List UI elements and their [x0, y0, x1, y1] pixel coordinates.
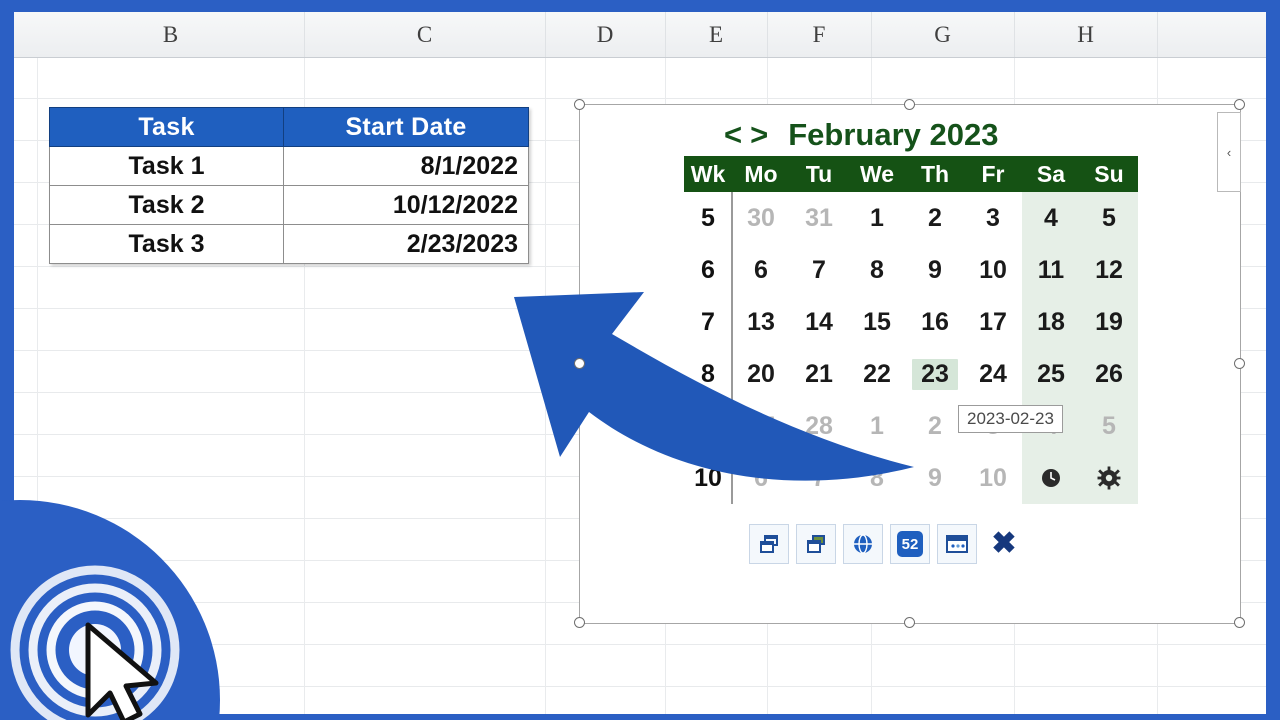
date-picker-toolbar: 52 ✖	[749, 524, 1024, 564]
calendar-day-label: 23	[912, 359, 958, 390]
column-header-label: E	[709, 22, 723, 48]
calendar-header: < > February 2023	[680, 114, 1142, 156]
column-header-label: F	[813, 22, 826, 48]
chevron-left-icon: ‹	[1227, 145, 1231, 160]
calendar-day-cell[interactable]: 5	[1080, 192, 1138, 244]
calendar-day-label: 5	[1102, 412, 1116, 441]
resize-handle-s[interactable]	[904, 617, 915, 628]
column-header-b[interactable]: B	[37, 12, 305, 57]
calendar-day-label: 9	[928, 256, 942, 285]
calendar-day-label: 19	[1095, 308, 1123, 337]
close-icon[interactable]: ✖	[984, 524, 1024, 564]
calendar-day-label: 9	[928, 464, 942, 493]
calendar-day-cell[interactable]: 1	[848, 192, 906, 244]
calendar-icon[interactable]	[937, 524, 977, 564]
grid-line	[14, 686, 1266, 687]
table-header-task: Task	[50, 108, 284, 147]
calendar-day-cell[interactable]: 17	[964, 296, 1022, 348]
week-number-cell: 8	[684, 348, 732, 400]
calendar-day-cell[interactable]: 8	[848, 244, 906, 296]
grid-line	[14, 644, 1266, 645]
week-number-cell: 9	[684, 400, 732, 452]
calendar-day-label: 10	[979, 256, 1007, 285]
calendar-day-label: 4	[1044, 204, 1058, 233]
week-number-icon[interactable]: 52	[890, 524, 930, 564]
calendar-day-cell[interactable]: 20	[732, 348, 790, 400]
column-header-e[interactable]: E	[665, 12, 768, 57]
calendar-day-cell[interactable]: 31	[790, 192, 848, 244]
column-header-d[interactable]: D	[545, 12, 666, 57]
calendar-day-cell[interactable]: 25	[1022, 348, 1080, 400]
grid-line	[545, 57, 546, 714]
calendar-day-label: 12	[1095, 256, 1123, 285]
calendar-day-cell[interactable]: 6	[732, 452, 790, 504]
resize-handle-se[interactable]	[1234, 617, 1245, 628]
calendar-day-cell[interactable]: 7	[790, 452, 848, 504]
calendar-day-label: 15	[863, 308, 891, 337]
resize-handle-n[interactable]	[904, 99, 915, 110]
calendar-day-label: 8	[870, 464, 884, 493]
calendar-day-cell[interactable]: 3	[964, 192, 1022, 244]
calendar-day-cell[interactable]: 2	[906, 400, 964, 452]
calendar-day-label: 25	[1037, 360, 1065, 389]
cell-start-date[interactable]: 8/1/2022	[283, 147, 528, 186]
calendar-day-label: 26	[1095, 360, 1123, 389]
calendar-day-label: 21	[805, 360, 833, 389]
dow-fri: Fr	[964, 156, 1022, 192]
next-month-button[interactable]: >	[746, 117, 772, 153]
calendar-day-label: 5	[1102, 204, 1116, 233]
calendar-day-label: 17	[979, 308, 1007, 337]
calendar-day-label: 1	[870, 412, 884, 441]
calendar-day-label: 6	[754, 464, 768, 493]
calendar-day-cell[interactable]: 4	[1022, 192, 1080, 244]
calendar-day-cell[interactable]: 2	[906, 192, 964, 244]
calendar-day-cell[interactable]: 19	[1080, 296, 1138, 348]
resize-handle-sw[interactable]	[574, 617, 585, 628]
column-header-g[interactable]: G	[871, 12, 1015, 57]
resize-handle-nw[interactable]	[574, 99, 585, 110]
calendar-day-label: 10	[979, 464, 1007, 493]
calendar-day-label: 24	[979, 360, 1007, 389]
calendar-day-label: 22	[863, 360, 891, 389]
calendar-day-cell[interactable]: 24	[964, 348, 1022, 400]
globe-icon[interactable]	[843, 524, 883, 564]
calendar-day-label: 2	[928, 412, 942, 441]
calendar-day-cell[interactable]: 23	[906, 348, 964, 400]
column-header-label: B	[163, 22, 178, 48]
table-row[interactable]: Task 1 8/1/2022	[50, 147, 529, 186]
dow-tue: Tu	[790, 156, 848, 192]
cascade-windows-icon[interactable]	[749, 524, 789, 564]
calendar-day-cell[interactable]: 5	[1080, 400, 1138, 452]
calendar-day-label: 13	[747, 308, 775, 337]
calendar-day-cell[interactable]: 9	[906, 244, 964, 296]
calendar-day-label: 7	[812, 256, 826, 285]
week-number-cell: 7	[684, 296, 732, 348]
grid-line	[37, 57, 38, 714]
grid-line	[14, 98, 1266, 99]
cell-start-date[interactable]: 10/12/2022	[283, 186, 528, 225]
calendar-day-cell[interactable]: 27	[732, 400, 790, 452]
column-header-h[interactable]: H	[1014, 12, 1158, 57]
calendar-day-label: 14	[805, 308, 833, 337]
calendar-title: February 2023	[788, 117, 998, 153]
task-table: Task Start Date Task 1 8/1/2022 Task 2 1…	[49, 107, 529, 264]
column-header-c[interactable]: C	[304, 12, 546, 57]
close-glyph: ✖	[991, 529, 1016, 559]
cell-task-name[interactable]: Task 3	[50, 225, 284, 264]
calendar-day-cell[interactable]: 30	[732, 192, 790, 244]
tile-windows-icon[interactable]	[796, 524, 836, 564]
table-header-row: Task Start Date	[50, 108, 529, 147]
calendar-day-label: 18	[1037, 308, 1065, 337]
calendar-day-cell[interactable]: 15	[848, 296, 906, 348]
calendar-day-label: 7	[812, 464, 826, 493]
calendar-day-label: 11	[1038, 256, 1064, 285]
calendar-day-cell[interactable]: 22	[848, 348, 906, 400]
resize-handle-ne[interactable]	[1234, 99, 1245, 110]
dow-thu: Th	[906, 156, 964, 192]
week-number-cell: 10	[684, 452, 732, 504]
cell-start-date[interactable]: 2/23/2023	[283, 225, 528, 264]
cell-task-name[interactable]: Task 2	[50, 186, 284, 225]
calendar-day-label: 28	[805, 412, 833, 441]
dow-sat: Sa	[1022, 156, 1080, 192]
table-row[interactable]: Task 2 10/12/2022	[50, 186, 529, 225]
column-header-f[interactable]: F	[767, 12, 872, 57]
calendar-day-label: 20	[747, 360, 775, 389]
calendar-day-label: 8	[870, 256, 884, 285]
calendar-day-label: 2	[928, 204, 942, 233]
week-number-cell: 5	[684, 192, 732, 244]
calendar-day-cell[interactable]: 8	[848, 452, 906, 504]
calendar-day-label: 16	[921, 308, 949, 337]
calendar-day-cell[interactable]: 13	[732, 296, 790, 348]
calendar-day-label: 27	[747, 412, 775, 441]
resize-handle-e[interactable]	[1234, 358, 1245, 369]
collapse-panel-button[interactable]: ‹	[1217, 112, 1241, 192]
resize-handle-w[interactable]	[574, 358, 585, 369]
date-tooltip: 2023-02-23	[958, 405, 1063, 433]
calendar-day-cell[interactable]: 1	[848, 400, 906, 452]
calendar-day-cell[interactable]: 6	[732, 244, 790, 296]
dow-wed: We	[848, 156, 906, 192]
calendar-day-label: 30	[747, 204, 775, 233]
calendar-day-cell[interactable]: 10	[964, 452, 1022, 504]
column-header-label: G	[934, 22, 951, 48]
calendar-day-label: 1	[870, 204, 884, 233]
calendar-day-cell[interactable]: 16	[906, 296, 964, 348]
calendar-day-label: 3	[986, 204, 1000, 233]
calendar-day-cell[interactable]: 28	[790, 400, 848, 452]
dow-sun: Su	[1080, 156, 1138, 192]
calendar-day-cell[interactable]: 14	[790, 296, 848, 348]
calendar-day-cell[interactable]: 10	[964, 244, 1022, 296]
calendar-day-cell[interactable]: 18	[1022, 296, 1080, 348]
calendar-day-label: 31	[805, 204, 833, 233]
week-number-cell: 6	[684, 244, 732, 296]
gear-icon[interactable]	[1080, 452, 1138, 504]
column-header-row: B C D E F G H	[14, 12, 1266, 58]
calendar-day-cell[interactable]: 21	[790, 348, 848, 400]
day-of-week-header: Wk Mo Tu We Th Fr Sa Su	[684, 156, 1138, 192]
column-header-label: H	[1077, 22, 1094, 48]
cell-task-name[interactable]: Task 1	[50, 147, 284, 186]
week-number-label: 52	[897, 531, 923, 557]
outer-blue-frame: B C D E F G H Task Start Date Task 1 8/1…	[0, 0, 1280, 720]
spreadsheet-canvas: B C D E F G H Task Start Date Task 1 8/1…	[14, 12, 1266, 714]
column-header-label: D	[597, 22, 614, 48]
clock-icon[interactable]	[1022, 452, 1080, 504]
column-header-label: C	[417, 22, 432, 48]
dow-wk: Wk	[684, 156, 732, 192]
calendar-day-cell[interactable]: 11	[1022, 244, 1080, 296]
week-column-separator	[731, 192, 733, 504]
table-header-start-date: Start Date	[283, 108, 528, 147]
prev-month-button[interactable]: <	[720, 117, 746, 153]
date-picker-widget[interactable]: < > February 2023 Wk Mo Tu We Th Fr Sa S…	[680, 114, 1142, 504]
calendar-day-cell[interactable]: 7	[790, 244, 848, 296]
calendar-day-cell[interactable]: 26	[1080, 348, 1138, 400]
calendar-day-cell[interactable]: 12	[1080, 244, 1138, 296]
calendar-day-label: 6	[754, 256, 768, 285]
dow-mon: Mo	[732, 156, 790, 192]
calendar-day-cell[interactable]: 9	[906, 452, 964, 504]
table-row[interactable]: Task 3 2/23/2023	[50, 225, 529, 264]
calendar-grid: 5303112345667891011127131415161718198202…	[684, 192, 1138, 504]
